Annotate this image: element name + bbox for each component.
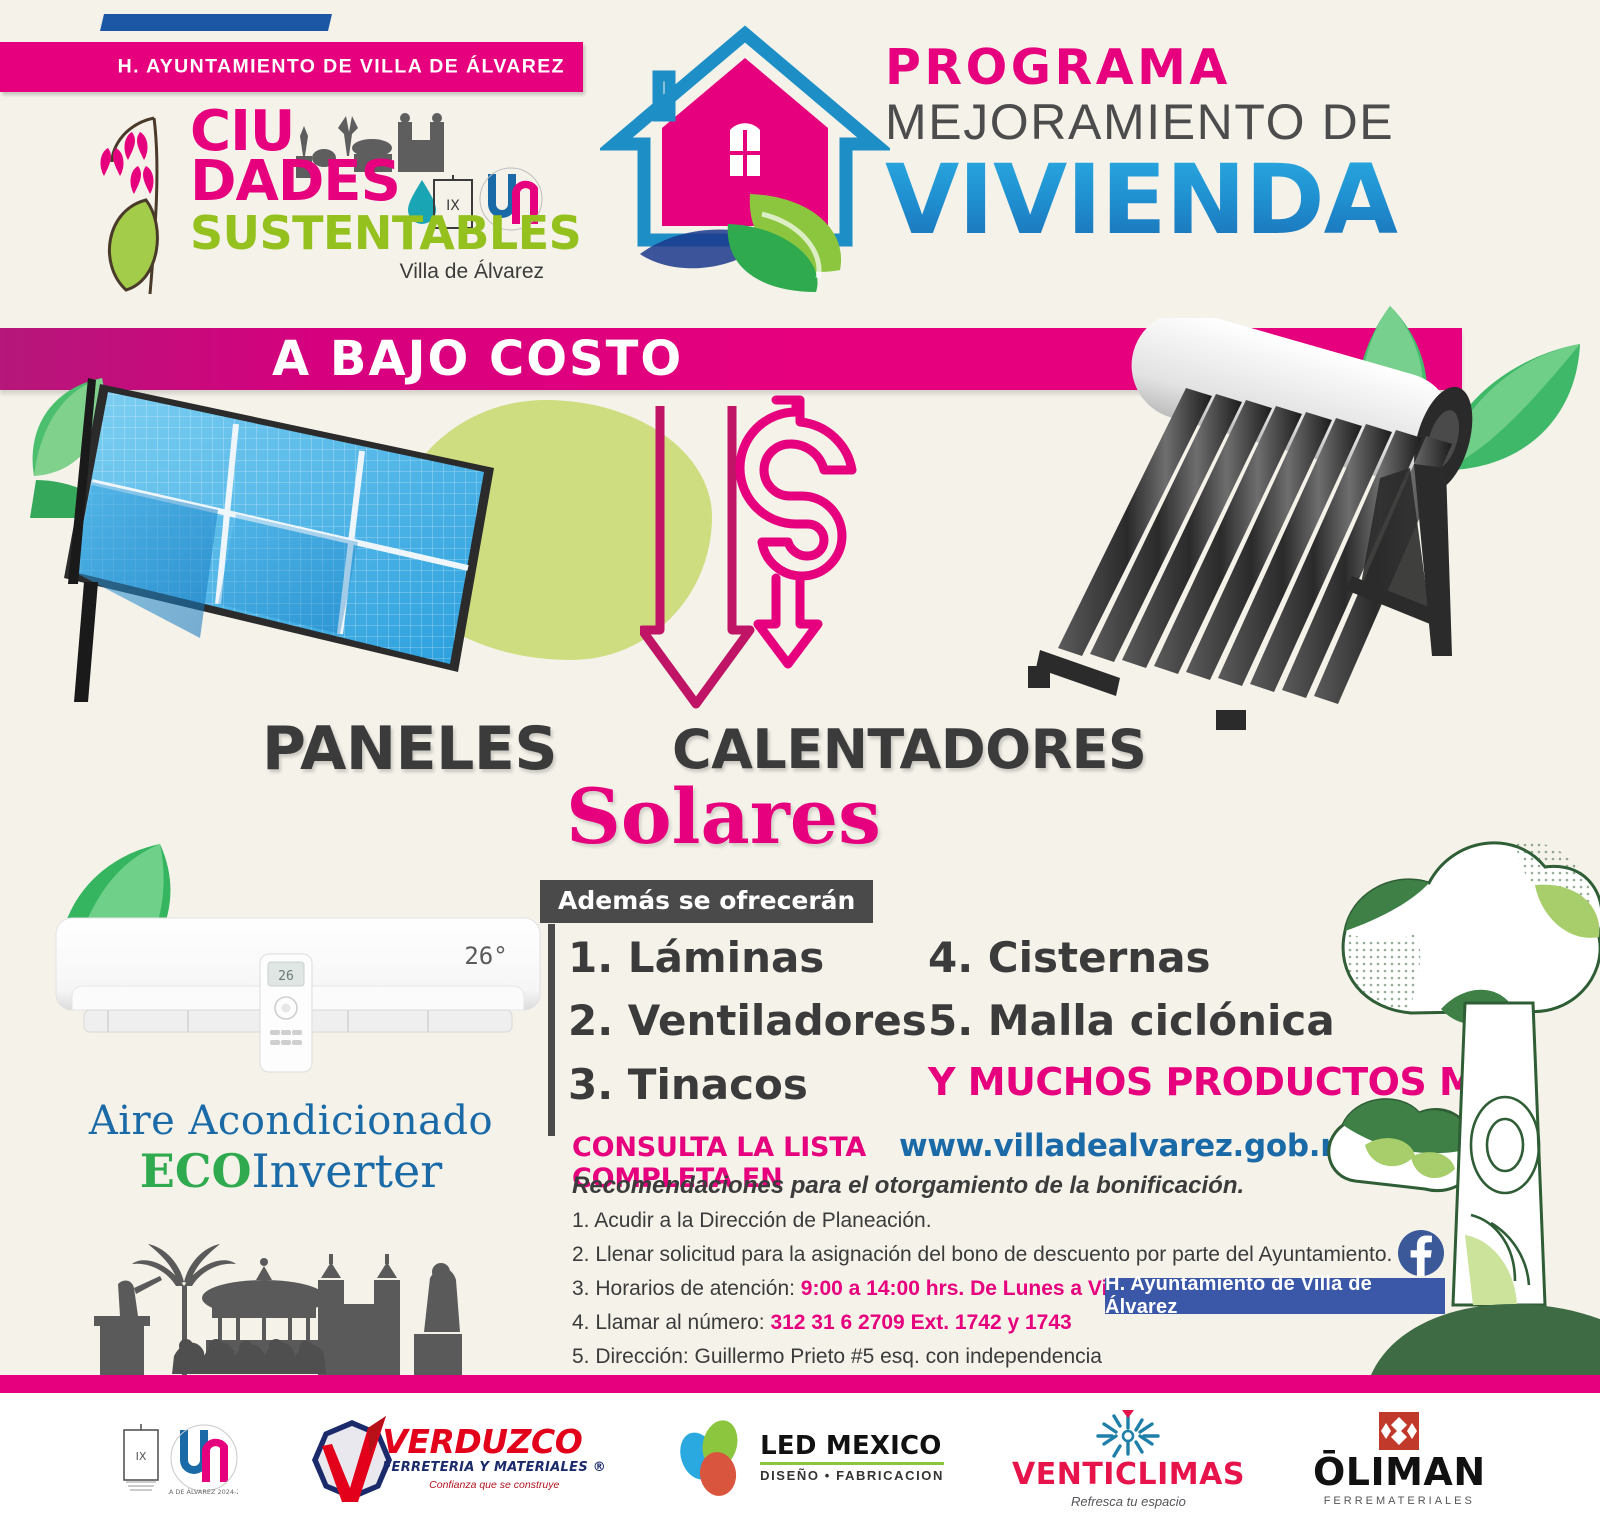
ac-subtitle: ECOInverter (56, 1148, 526, 1194)
facebook-icon[interactable] (1398, 1230, 1444, 1276)
list-item: 1. Láminas (568, 930, 928, 985)
offer-list-grid: 1. Láminas 4. Cisternas 2. Ventiladores … (568, 930, 1308, 1112)
facebook-page-bar[interactable]: H. Ayuntamiento de Villa de Álvarez (1105, 1278, 1445, 1314)
sponsor-venticlimas: VENTICLIMAS Refresca tu espacio (1012, 1408, 1245, 1509)
program-line-programa: PROGRAMA (885, 42, 1585, 93)
divider (760, 1462, 944, 1465)
sponsor-name: LED MEXICO (760, 1433, 944, 1459)
recommendation-text: 3. Horarios de atención: (572, 1277, 801, 1300)
program-line-vivienda: VIVIENDA (885, 152, 1585, 248)
sponsors-row: IX VILLA DE ÁLVAREZ 2024-2027 VERDUZCO (0, 1393, 1600, 1523)
sponsor-municipality: IX VILLA DE ÁLVAREZ 2024-2027 (114, 1420, 238, 1496)
sponsor-subtitle: Refresca tu espacio (1071, 1494, 1186, 1509)
sponsor-oliman: ŌLIMAN FERREMATERIALES (1313, 1409, 1486, 1507)
house-leaf-logo-icon (600, 18, 890, 293)
sponsor-led-mexico: LED MEXICO DISEÑO • FABRICACION (674, 1418, 944, 1498)
program-title-block: PROGRAMA MEJORAMIENTO DE VIVIENDA (885, 42, 1585, 248)
ac-eco-label: ECO (140, 1144, 252, 1198)
sponsors-footer: IX VILLA DE ÁLVAREZ 2024-2027 VERDUZCO (0, 1393, 1600, 1523)
svg-text:IX: IX (136, 1450, 147, 1463)
recommendation-text: 1. Acudir a la Dirección de Planeación. (572, 1209, 932, 1232)
list-item: 2. Ventiladores (568, 993, 928, 1048)
municipality-banner: H. AYUNTAMIENTO DE VILLA DE ÁLVAREZ (0, 42, 583, 92)
svg-text:26: 26 (278, 969, 294, 984)
sponsor-subtitle: FERREMATERIALES (1324, 1495, 1475, 1507)
product-title-paneles: PANELES (262, 714, 557, 784)
villa-alvarez-emblem-icon: VILLA DE ÁLVAREZ 2024-2027 (168, 1420, 238, 1496)
sponsor-tagline: Confianza que se construye (382, 1479, 606, 1491)
sponsor-subtitle: FERRETERIA Y MATERIALES ® (382, 1460, 606, 1475)
svg-text:VILLA DE ÁLVAREZ 2024-2027: VILLA DE ÁLVAREZ 2024-2027 (168, 1487, 238, 1496)
sponsor-subtitle: DISEÑO • FABRICACION (760, 1468, 944, 1483)
recommendation-highlight: 312 31 6 2709 Ext. 1742 y 1743 (770, 1311, 1071, 1334)
ciudades-sustentables-logo: IX CIU DADES SUSTENTABLES Villa de Álvar… (86, 100, 556, 315)
facebook-page-label: H. Ayuntamiento de Villa de Álvarez (1105, 1273, 1445, 1319)
recommendation-text: 5. Dirección: Guillermo Prieto #5 esq. c… (572, 1345, 1102, 1368)
ac-temperature-display: 26° (464, 942, 507, 970)
venticlimas-snowflake-icon (1090, 1408, 1166, 1460)
price-down-dollar-icon (640, 392, 900, 722)
list-item: 3. Tinacos (568, 1057, 928, 1112)
offer-list-rule (548, 924, 555, 1136)
ac-inverter-label: Inverter (252, 1144, 443, 1198)
logo-line-sustentables: SUSTENTABLES (190, 210, 550, 256)
offer-list-tag: Además se ofrecerán (540, 880, 873, 923)
flower-leaf-icon (86, 104, 196, 299)
led-mexico-wordmark: LED MEXICO DISEÑO • FABRICACION (760, 1433, 944, 1483)
offer-list-block: Además se ofrecerán 1. Láminas 4. Cister… (540, 880, 1320, 923)
sponsor-name: ŌLIMAN (1313, 1453, 1486, 1491)
solar-panel-image (58, 372, 538, 712)
air-conditioner-image: 26 26° (48, 912, 548, 1092)
sponsor-name: VERDUZCO (382, 1425, 606, 1458)
bottom-pink-bar (0, 1375, 1600, 1393)
verduzco-wordmark: VERDUZCO FERRETERIA Y MATERIALES ® Confi… (382, 1425, 606, 1491)
ciudades-sustentables-wordmark: CIU DADES SUSTENTABLES Villa de Álvarez (190, 108, 550, 284)
blue-accent-tab (100, 14, 332, 31)
sponsor-name: VENTICLIMAS (1012, 1460, 1245, 1490)
city-silhouette-decoration (78, 1238, 498, 1388)
sponsor-verduzco: VERDUZCO FERRETERIA Y MATERIALES ® Confi… (306, 1410, 606, 1506)
logo-locality: Villa de Álvarez (190, 260, 550, 284)
led-mexico-logo-icon (674, 1418, 754, 1498)
product-title-solares: Solares (566, 772, 881, 861)
ac-title: Aire Acondicionado (56, 1098, 526, 1144)
logo-line-dades: DADES (190, 156, 550, 208)
government-seal-icon: IX (114, 1422, 168, 1494)
facebook-glyph-icon (1398, 1230, 1444, 1276)
recommendations-heading: Recomendaciones para el otorgamiento de … (572, 1172, 1244, 1200)
poster-canvas: H. AYUNTAMIENTO DE VILLA DE ÁLVAREZ (0, 0, 1600, 1393)
municipality-banner-label: H. AYUNTAMIENTO DE VILLA DE ÁLVAREZ (118, 56, 565, 79)
solar-water-heater-image (1000, 318, 1520, 748)
oliman-mark-icon (1376, 1409, 1422, 1453)
recommendation-text: 4. Llamar al número: (572, 1311, 770, 1334)
